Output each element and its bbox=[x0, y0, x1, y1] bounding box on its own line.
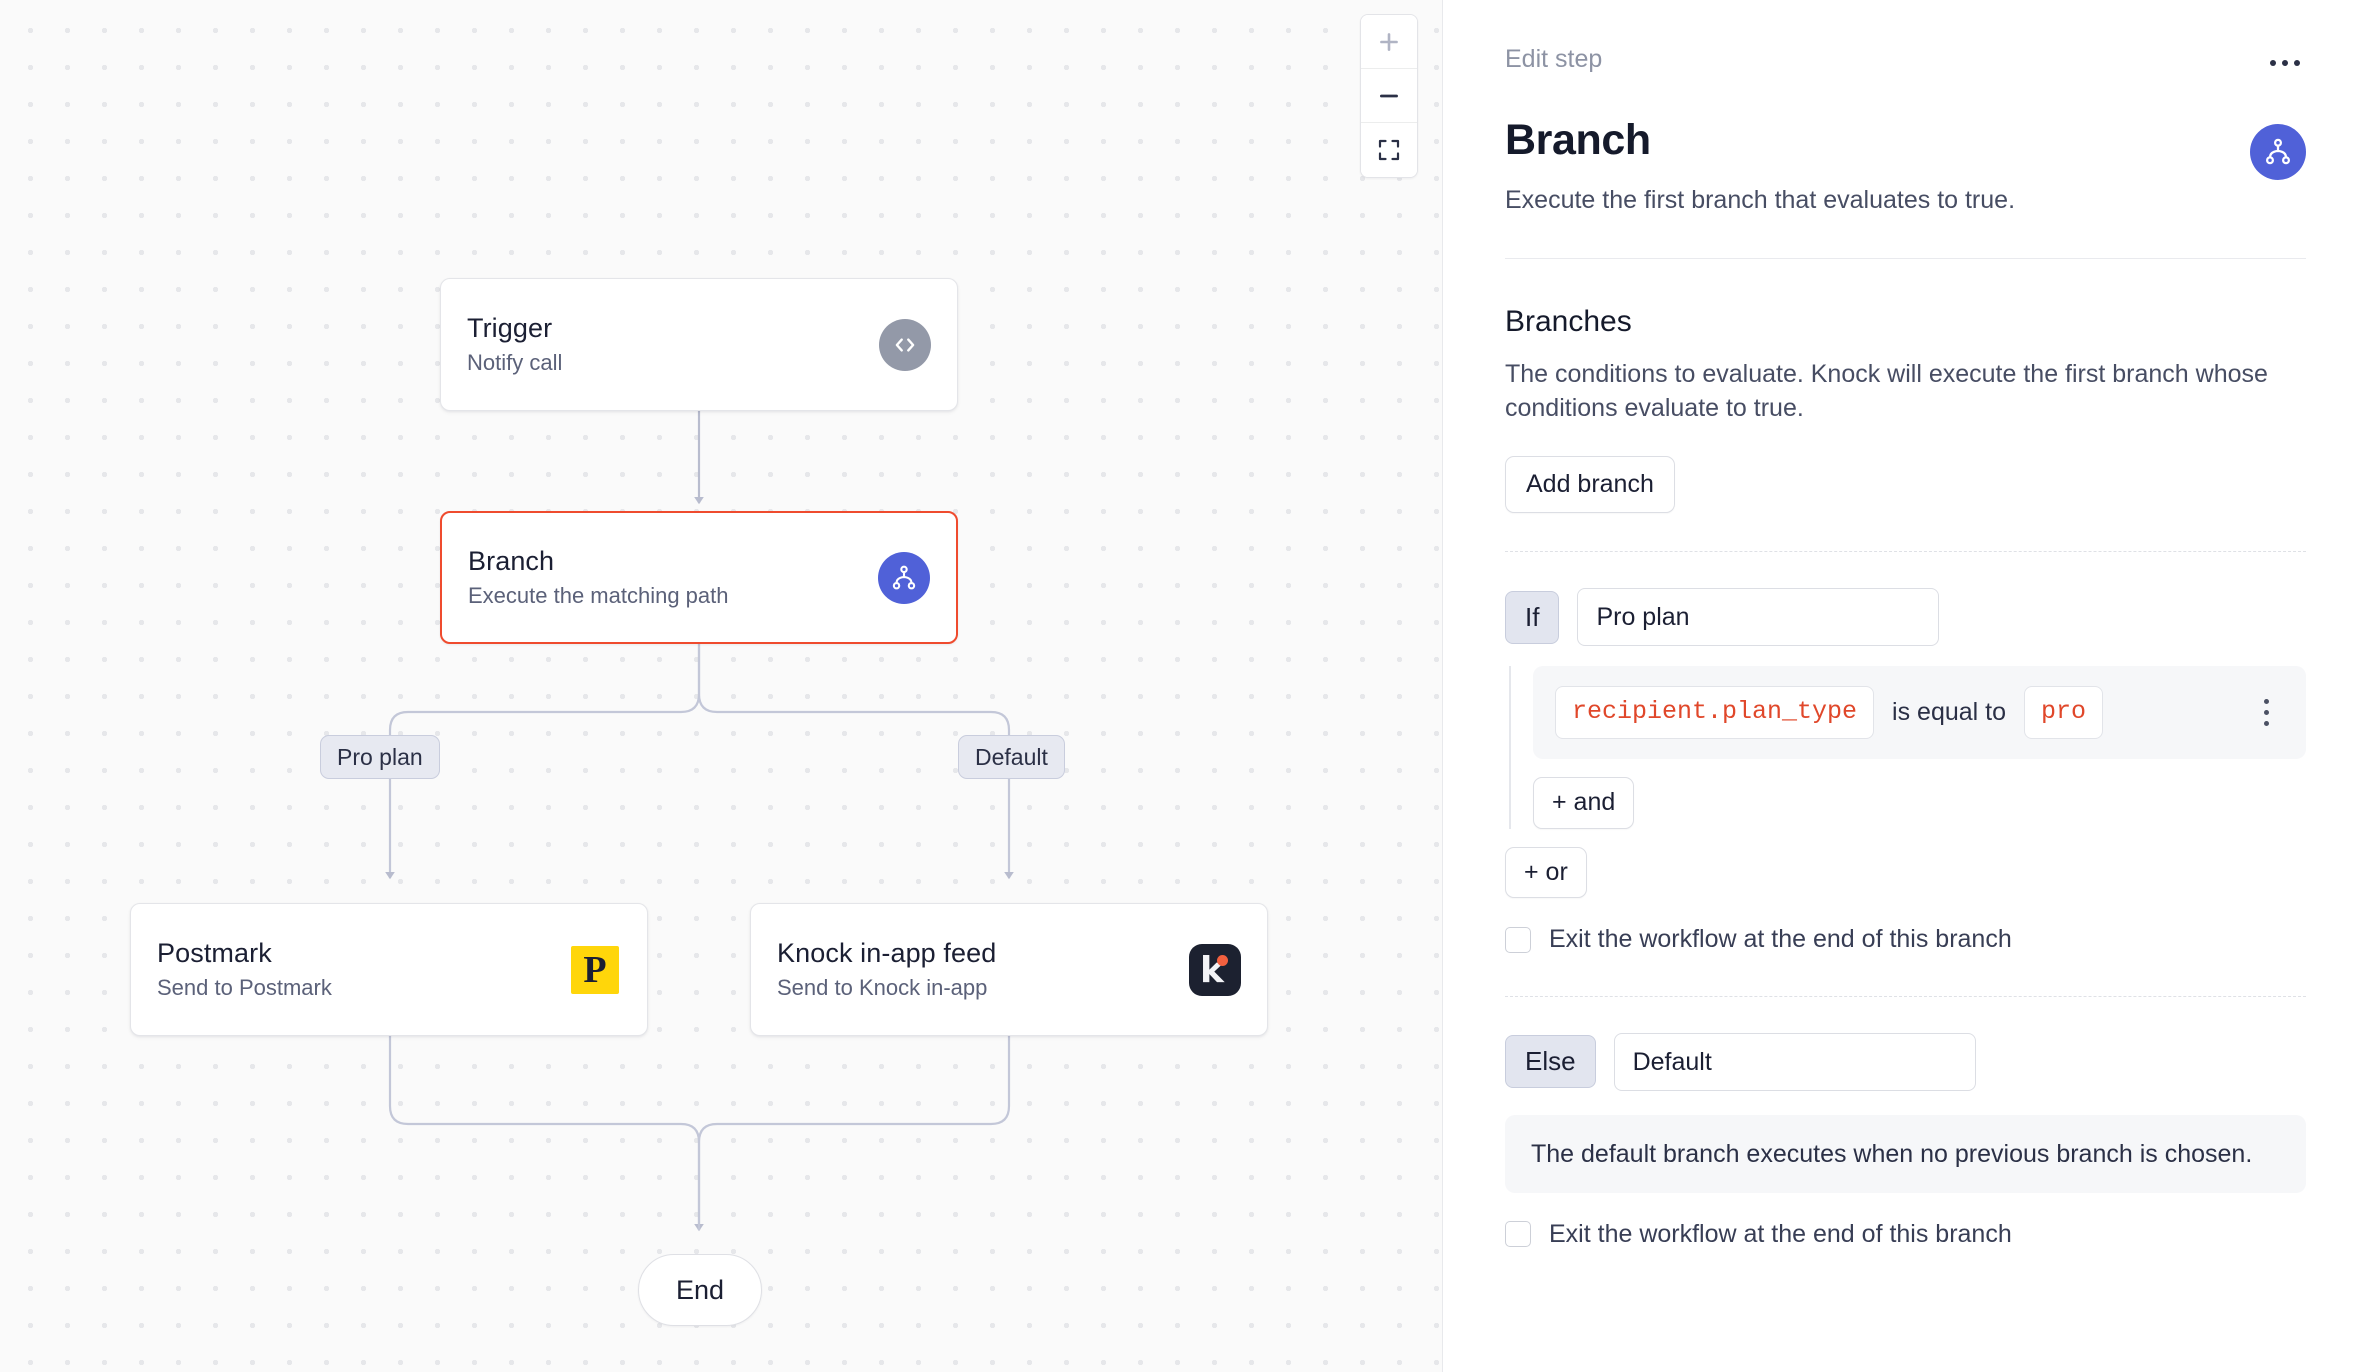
divider bbox=[1505, 996, 2306, 997]
node-text: Trigger Notify call bbox=[467, 314, 562, 375]
default-branch-info: The default branch executes when no prev… bbox=[1505, 1115, 2306, 1193]
branch-if-name-input[interactable] bbox=[1577, 588, 1939, 646]
vertical-ellipsis-icon[interactable] bbox=[2248, 691, 2284, 735]
panel-top-bar: Edit step bbox=[1505, 46, 2306, 80]
branch-else-exit-row[interactable]: Exit the workflow at the end of this bra… bbox=[1505, 1221, 2306, 1249]
branch-else: Else The default branch executes when no… bbox=[1505, 1033, 2306, 1249]
edge-label-default[interactable]: Default bbox=[958, 735, 1065, 779]
exit-workflow-label: Exit the workflow at the end of this bra… bbox=[1549, 926, 2012, 954]
add-or-holder: + or bbox=[1505, 847, 2306, 899]
node-text: Branch Execute the matching path bbox=[468, 547, 729, 608]
fit-view-button[interactable] bbox=[1361, 123, 1417, 177]
branch-if: If recipient.plan_type is equal to pro +… bbox=[1505, 588, 2306, 953]
page-title: Branch bbox=[1505, 118, 2015, 163]
node-text: Knock in-app feed Send to Knock in-app bbox=[777, 939, 996, 1000]
branch-if-header: If bbox=[1505, 588, 2306, 646]
add-and-holder: + and bbox=[1533, 777, 2306, 829]
add-and-button[interactable]: + and bbox=[1533, 777, 1634, 829]
condition-field-pill[interactable]: recipient.plan_type bbox=[1555, 686, 1874, 739]
branch-else-name-input[interactable] bbox=[1614, 1033, 1976, 1091]
if-keyword-chip: If bbox=[1505, 591, 1559, 644]
end-node-label: End bbox=[676, 1275, 724, 1306]
add-branch-button[interactable]: Add branch bbox=[1505, 456, 1675, 514]
edge-label-pro-plan[interactable]: Pro plan bbox=[320, 735, 440, 779]
flow-node-trigger[interactable]: Trigger Notify call bbox=[440, 278, 958, 411]
knock-icon: k bbox=[1189, 944, 1241, 996]
branch-if-exit-row[interactable]: Exit the workflow at the end of this bra… bbox=[1505, 926, 2306, 954]
condition-value-pill[interactable]: pro bbox=[2024, 686, 2103, 739]
knock-logo-glyph: k bbox=[1189, 944, 1241, 996]
zoom-in-button[interactable] bbox=[1361, 15, 1417, 69]
zoom-out-button[interactable] bbox=[1361, 69, 1417, 123]
node-title: Branch bbox=[468, 547, 729, 577]
canvas-zoom-controls[interactable] bbox=[1360, 14, 1418, 178]
panel-header: Branch Execute the first branch that eva… bbox=[1505, 118, 2306, 216]
node-title: Postmark bbox=[157, 939, 332, 969]
else-keyword-chip: Else bbox=[1505, 1035, 1596, 1088]
exit-workflow-checkbox[interactable] bbox=[1505, 1221, 1531, 1247]
postmark-icon: P bbox=[569, 944, 621, 996]
node-subtitle: Send to Knock in-app bbox=[777, 976, 996, 1000]
flow-node-postmark[interactable]: Postmark Send to Postmark P bbox=[130, 903, 648, 1036]
flow-connectors bbox=[0, 0, 1443, 1372]
workflow-editor: Trigger Notify call Branch Execute the m… bbox=[0, 0, 2368, 1372]
postmark-stamp-glyph: P bbox=[571, 946, 619, 994]
flow-node-branch[interactable]: Branch Execute the matching path bbox=[440, 511, 958, 644]
node-subtitle: Notify call bbox=[467, 351, 562, 375]
branches-section-description: The conditions to evaluate. Knock will e… bbox=[1505, 358, 2306, 426]
workflow-canvas[interactable]: Trigger Notify call Branch Execute the m… bbox=[0, 0, 1443, 1372]
node-subtitle: Execute the matching path bbox=[468, 584, 729, 608]
branch-else-header: Else bbox=[1505, 1033, 2306, 1091]
knock-dot bbox=[1217, 955, 1228, 966]
flow-node-knock-in-app-feed[interactable]: Knock in-app feed Send to Knock in-app k bbox=[750, 903, 1268, 1036]
branch-icon bbox=[878, 552, 930, 604]
flow-node-end[interactable]: End bbox=[638, 1254, 762, 1326]
node-title: Knock in-app feed bbox=[777, 939, 996, 969]
panel-description: Execute the first branch that evaluates … bbox=[1505, 185, 2015, 216]
ellipsis-icon[interactable] bbox=[2264, 46, 2306, 80]
exit-workflow-checkbox[interactable] bbox=[1505, 927, 1531, 953]
panel-header-text: Branch Execute the first branch that eva… bbox=[1505, 118, 2015, 216]
add-or-button[interactable]: + or bbox=[1505, 847, 1587, 899]
code-brackets-icon bbox=[879, 319, 931, 371]
branches-section-title: Branches bbox=[1505, 305, 2306, 338]
panel-eyebrow: Edit step bbox=[1505, 46, 1602, 74]
divider bbox=[1505, 258, 2306, 259]
condition-row[interactable]: recipient.plan_type is equal to pro bbox=[1533, 666, 2306, 759]
divider bbox=[1505, 551, 2306, 552]
node-subtitle: Send to Postmark bbox=[157, 976, 332, 1000]
node-text: Postmark Send to Postmark bbox=[157, 939, 332, 1000]
condition-operator[interactable]: is equal to bbox=[1892, 699, 2006, 727]
exit-workflow-label: Exit the workflow at the end of this bra… bbox=[1549, 1221, 2012, 1249]
edit-step-panel: Edit step Branch Execute the first branc… bbox=[1443, 0, 2368, 1372]
branch-if-conditions: recipient.plan_type is equal to pro + an… bbox=[1509, 666, 2306, 828]
branch-icon bbox=[2250, 124, 2306, 180]
node-title: Trigger bbox=[467, 314, 562, 344]
